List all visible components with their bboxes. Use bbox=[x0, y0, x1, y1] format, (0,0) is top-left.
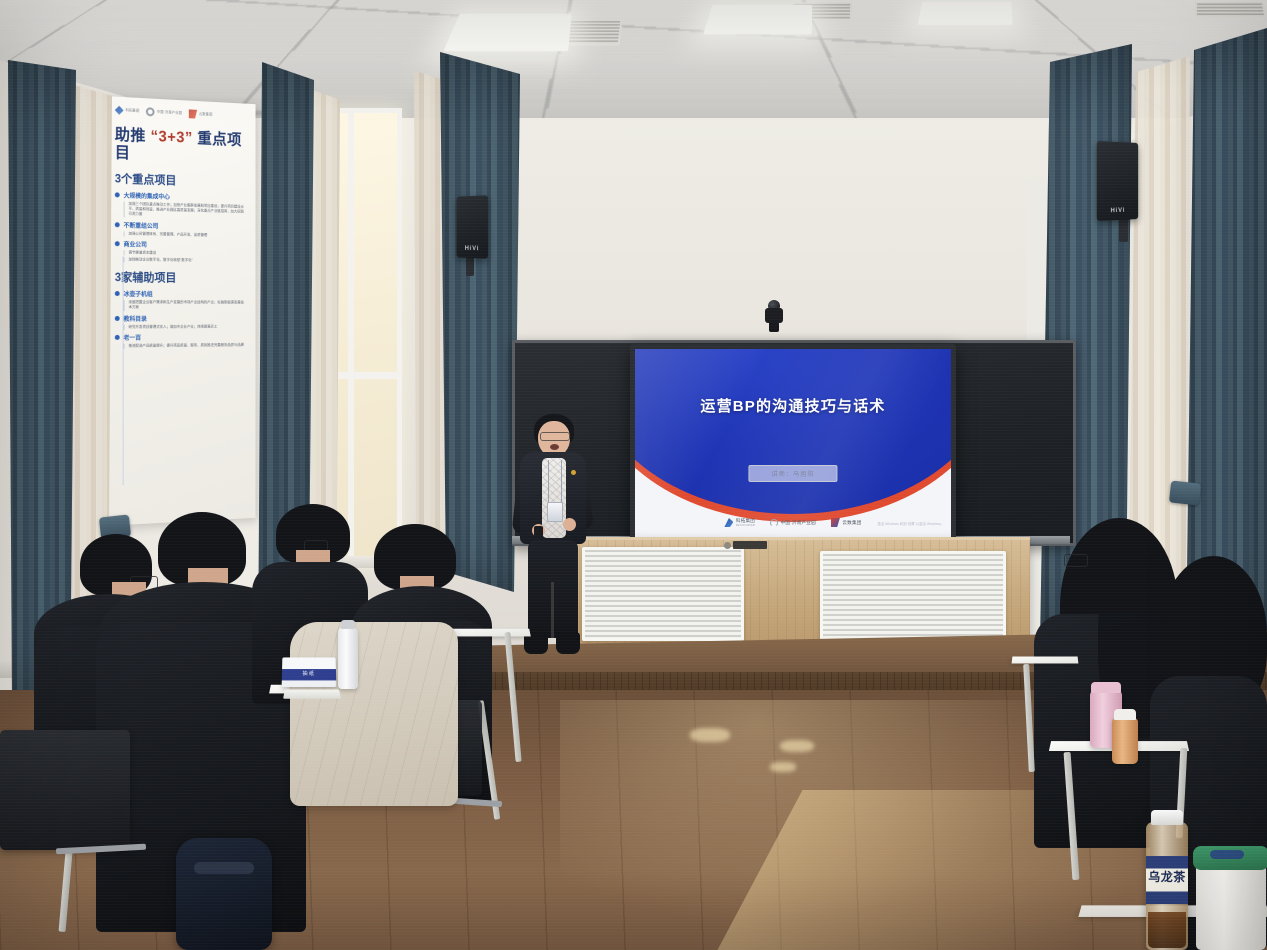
amber-drink-bottle bbox=[1112, 718, 1138, 764]
window-mullion bbox=[348, 108, 354, 558]
slide-logo-3: 云数集团 bbox=[831, 518, 862, 527]
tea-liquid bbox=[1148, 912, 1186, 948]
bullet-icon bbox=[115, 335, 120, 340]
poster-item-name: 不断重组公司 bbox=[124, 220, 159, 230]
radiator-grille bbox=[582, 547, 744, 641]
poster-item-detail: 加强公司管理体系、完善管理、产品开发、品质管理 bbox=[124, 231, 246, 238]
poster-logo-row: 科拓集团 中国·济南产业园 云数集团 bbox=[115, 106, 246, 121]
poster-logo-3-label: 云数集团 bbox=[199, 112, 212, 117]
backpack-strap bbox=[194, 862, 254, 874]
slide-blue-arc bbox=[635, 349, 951, 514]
poster-item: 冰壶子机组 bbox=[115, 289, 246, 298]
notebook bbox=[283, 690, 341, 699]
presentation-clicker[interactable] bbox=[534, 526, 543, 537]
poster-title: 助推 “3+3” 重点项目 bbox=[115, 127, 246, 168]
slide-logo-1-sub: KETUO GROUP bbox=[736, 524, 755, 527]
presenter-right-hand bbox=[563, 518, 576, 531]
bottle-cap bbox=[1091, 682, 1121, 693]
poster-item-name: 冰壶子机组 bbox=[124, 289, 153, 298]
ceiling-light-panel bbox=[918, 2, 1013, 25]
tissue-box: 抽纸 bbox=[282, 657, 337, 687]
poster-item: 商业公司 bbox=[115, 239, 246, 250]
backpack bbox=[176, 838, 272, 950]
speaker-brand-label: HiVi bbox=[457, 246, 489, 253]
bullet-icon bbox=[115, 222, 120, 227]
glasses-icon bbox=[540, 432, 570, 441]
flag-logo-icon bbox=[189, 109, 197, 118]
oolong-tea-label-text: 乌龙茶 bbox=[1146, 868, 1188, 885]
poster-logo-1-label: 科拓集团 bbox=[126, 109, 140, 114]
light-reflection-spot bbox=[770, 762, 796, 772]
presentation-slide: 运营BP的沟通技巧与话术 讲师：马旭阳 科拓集团 KETUO GROUP 中国·… bbox=[635, 349, 951, 541]
draped-coat bbox=[290, 622, 458, 806]
green-lid-cup bbox=[1196, 858, 1266, 950]
presenter-mouth bbox=[550, 444, 559, 450]
bottle-cap bbox=[1114, 709, 1136, 720]
poster-item: 老一百 bbox=[115, 332, 246, 342]
speaker-left: HiVi bbox=[457, 195, 489, 258]
bullet-icon bbox=[115, 241, 120, 246]
bullet-icon bbox=[115, 291, 120, 296]
poster-item-detail: 研究开发项目管理式实人；增加中企业产业；持续提高员工 bbox=[124, 324, 246, 330]
speaker-right: HiVi bbox=[1097, 141, 1138, 221]
poster-logo-3: 云数集团 bbox=[189, 109, 213, 119]
ceiling-vent-icon bbox=[1195, 2, 1267, 19]
poster-item-name: 大规模的集成中心 bbox=[124, 191, 170, 201]
slide-presenter-label: 讲师：马旭阳 bbox=[748, 465, 837, 482]
id-badge bbox=[547, 502, 563, 522]
flag-logo-icon bbox=[831, 518, 840, 527]
poster-logo-2-label: 中国·济南产业园 bbox=[157, 110, 182, 115]
oolong-tea-bottle: 乌龙茶 bbox=[1146, 822, 1188, 950]
bullet-icon bbox=[115, 316, 120, 321]
poster-item-detail: 深度把握企业客户需求和生产发展的市场产业结构的产业；实施新能源发展技术方案 bbox=[124, 300, 246, 310]
radiator-grille bbox=[820, 551, 1006, 641]
ceiling-light-panel bbox=[703, 5, 812, 34]
poster-title-prefix: 助推 bbox=[115, 127, 146, 145]
camera-mount bbox=[769, 322, 779, 332]
ceiling-light-panel bbox=[443, 14, 571, 51]
chair-left-front[interactable] bbox=[0, 730, 130, 850]
tissue-box-label: 抽纸 bbox=[282, 670, 336, 677]
slide-logo-3-label: 云数集团 bbox=[842, 520, 861, 525]
classroom-photo-scene: 科拓集团 中国·济南产业园 云数集团 助推 “3+3” 重点项目 3个重点项目 … bbox=[0, 0, 1267, 950]
curtain-tieback bbox=[1169, 480, 1201, 505]
poster-item-name: 商业公司 bbox=[124, 239, 147, 248]
diamond-logo-icon bbox=[115, 106, 124, 115]
slide-logo-1: 科拓集团 KETUO GROUP bbox=[724, 518, 755, 527]
ptz-camera-icon bbox=[762, 300, 786, 332]
slide-title: 运营BP的沟通技巧与话术 bbox=[635, 395, 951, 416]
poster-item: 不断重组公司 bbox=[115, 220, 246, 232]
interactive-display[interactable]: 运营BP的沟通技巧与话术 讲师：马旭阳 科拓集团 KETUO GROUP 中国·… bbox=[630, 344, 956, 546]
speaker-mount-bracket bbox=[466, 256, 474, 276]
poster-logo-2: 中国·济南产业园 bbox=[146, 107, 182, 118]
poster-section-2-heading: 3家辅助项目 bbox=[115, 269, 246, 286]
poster-item: 教科目录 bbox=[115, 313, 246, 322]
light-reflection-spot bbox=[690, 728, 730, 742]
white-thermos-bottle bbox=[338, 627, 358, 689]
poster-item-name: 教科目录 bbox=[124, 314, 147, 323]
cabinet-control-panel[interactable] bbox=[733, 541, 767, 549]
glasses-icon bbox=[1064, 554, 1088, 567]
light-reflection-spot bbox=[780, 740, 814, 752]
poster-item-name: 老一百 bbox=[124, 333, 141, 342]
bottle-cap bbox=[1151, 810, 1183, 825]
poster-title-quote: “3+3” bbox=[151, 128, 193, 147]
speaker-brand-label: HiVi bbox=[1097, 207, 1138, 215]
presenter-boot-right bbox=[556, 632, 580, 654]
slide-logo-1-label: 科拓集团 bbox=[736, 518, 755, 523]
cup-lid-highlight bbox=[1210, 850, 1244, 859]
desk-right-rear bbox=[1012, 657, 1079, 664]
camera-body bbox=[765, 308, 783, 323]
poster-item-detail: 调节渠道资本建设 bbox=[124, 250, 246, 257]
windows-activation-watermark: 激活 Windows 转到"设置"以激活 Windows。 bbox=[877, 522, 944, 527]
ring-logo-icon bbox=[146, 107, 155, 116]
bullet-icon bbox=[115, 192, 120, 197]
speaker-mount-bracket bbox=[1119, 218, 1128, 242]
lanyard bbox=[548, 460, 562, 506]
poster-item-detail: 推进配送产品质量提升；提升商品质量、服务、质效推进完善服务品质与品牌 bbox=[124, 343, 246, 349]
poster-item-detail: 加强三个团队重点推动工作；加快产业集群发展和项目建设；提升项目建设水平、质量和效… bbox=[124, 201, 246, 219]
lapel-pin-icon bbox=[571, 470, 576, 475]
coat-folds bbox=[290, 622, 458, 806]
poster-section-1-heading: 3个重点项目 bbox=[115, 170, 246, 190]
cabinet-knob-icon[interactable] bbox=[724, 542, 731, 549]
diamond-logo-icon bbox=[724, 518, 733, 527]
wall-poster: 科拓集团 中国·济南产业园 云数集团 助推 “3+3” 重点项目 3个重点项目 … bbox=[104, 96, 256, 526]
poster-logo-1: 科拓集团 bbox=[115, 106, 140, 116]
slide-logo-2-label: 中国·济南产业园 bbox=[781, 520, 816, 525]
bottle-cap bbox=[341, 620, 355, 629]
poster-timeline-rule bbox=[123, 256, 124, 485]
slide-logo-2: 中国·济南产业园 bbox=[770, 519, 816, 527]
poster-item-detail: 加快推动企业数字化、数字化转型“数字化” bbox=[124, 257, 246, 264]
trouser-seam bbox=[551, 582, 554, 638]
ring-logo-icon bbox=[770, 519, 778, 527]
